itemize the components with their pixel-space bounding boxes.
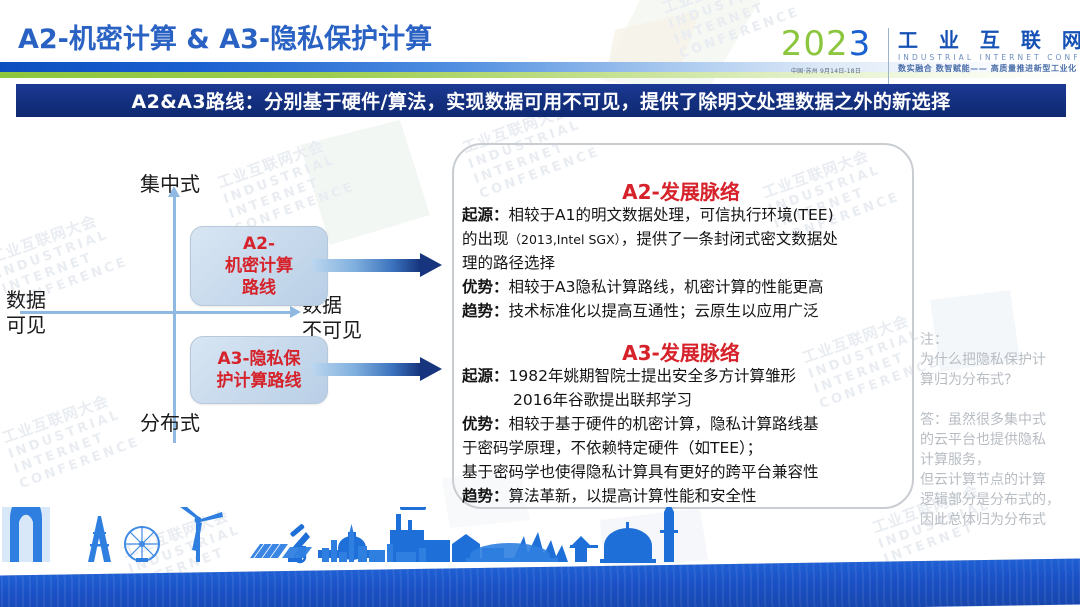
watermark-text: 工业互联网大会 INDUSTRIAL INTERNET CONFERENCE xyxy=(215,131,358,238)
a2-line-4-label: 优势： xyxy=(462,278,509,296)
logo-name-block: 工 业 互 联 网 大 会 INDUSTRIAL INTERNET CONFER… xyxy=(898,26,1080,75)
route-box-a3[interactable]: A3-隐私保 护计算路线 xyxy=(190,336,328,404)
a2-line-4-text: 相较于A3隐私计算路线，机密计算的性能更高 xyxy=(509,278,824,296)
arrow-head-icon xyxy=(420,253,442,277)
a3-line-3: 优势：相较于基于硬件的机密计算，隐私计算路线基 xyxy=(462,412,819,436)
arrow-to-a3-detail xyxy=(312,357,442,381)
slide-canvas: 工业互联网大会 INDUSTRIAL INTERNET CONFERENCE 工… xyxy=(0,0,1080,607)
a3-line-1-label: 起源： xyxy=(462,367,509,385)
a2-line-1-text: 相较于A1的明文数据处理，可信执行环境(TEE) xyxy=(509,206,834,224)
route-box-a3-label: A3-隐私保 护计算路线 xyxy=(217,348,302,392)
a2-line-5-label: 趋势： xyxy=(462,302,509,320)
a2-line-1: 起源：相较于A1的明文数据处理，可信执行环境(TEE) xyxy=(462,203,834,227)
arrow-head-icon xyxy=(420,357,442,381)
a2-line-2: 的出现（2013,Intel SGX），提供了一条封闭式密文数据处 xyxy=(462,227,838,252)
logo-slogan: 数实融合 数智赋能—— 高质量推进新型工业化 xyxy=(898,63,1080,75)
a2-line-4: 优势：相较于A3隐私计算路线，机密计算的性能更高 xyxy=(462,275,823,299)
a3-line-5-text: 基于密码学也使得隐私计算具有更好的跨平台兼容性 xyxy=(462,463,819,481)
route-box-a2[interactable]: A2- 机密计算 路线 xyxy=(190,226,328,306)
a2-line-2-text: 的出现 xyxy=(462,230,509,248)
arrow-shaft xyxy=(312,363,420,376)
a3-line-4: 于密码学原理，不依赖特定硬件（如TEE）； xyxy=(462,436,762,460)
logo-year-block: 2023 中国·苏州 9月14日-18日 xyxy=(770,26,888,75)
axis-label-left: 数据 可见 xyxy=(6,288,46,338)
a3-line-5: 基于密码学也使得隐私计算具有更好的跨平台兼容性 xyxy=(462,460,819,484)
footer-skyline xyxy=(0,507,1080,607)
logo-year: 2023 xyxy=(770,26,882,62)
a3-line-1: 起源：1982年姚期智院士提出安全多方计算雏形 xyxy=(462,364,796,388)
a3-line-6-label: 趋势： xyxy=(462,487,509,505)
logo-divider xyxy=(888,28,889,84)
section-a2-title: A2-发展脉络 xyxy=(452,176,910,205)
arrow-to-a2-detail xyxy=(312,253,442,277)
logo-name-en: INDUSTRIAL INTERNET CONFERENCE xyxy=(898,52,1080,63)
side-note: 注： 为什么把隐私保护计 算归为分布式? 答：虽然很多集中式 的云平台也提供隐私… xyxy=(920,330,1072,530)
logo-date: 中国·苏州 9月14日-18日 xyxy=(770,66,882,75)
a3-line-2: 2016年谷歌提出联邦学习 xyxy=(513,388,692,412)
page-title: A2-机密计算 & A3-隐私保护计算 xyxy=(18,17,432,56)
a3-line-6-text: 算法革新，以提高计算性能和安全性 xyxy=(509,487,757,505)
section-a3-title: A3-发展脉络 xyxy=(452,337,910,366)
arrow-shaft xyxy=(312,259,420,272)
a2-line-5: 趋势：技术标准化以提高互通性；云原生以应用广泛 xyxy=(462,299,819,323)
a2-line-5-text: 技术标准化以提高互通性；云原生以应用广泛 xyxy=(509,302,819,320)
axis-horizontal-arrowhead-icon xyxy=(290,306,301,318)
logo-name-cn: 工 业 互 联 网 大 会 xyxy=(898,28,1080,52)
watermark-text: 工业互联网大会 INDUSTRIAL INTERNET CONFERENCE xyxy=(0,386,143,493)
a3-line-6: 趋势：算法革新，以提高计算性能和安全性 xyxy=(462,484,757,508)
a3-line-1-text: 1982年姚期智院士提出安全多方计算雏形 xyxy=(509,367,796,385)
a2-line-2-note: （2013,Intel SGX） xyxy=(509,232,621,247)
axis-horizontal xyxy=(20,311,292,314)
a2-line-2-tail: ，提供了一条封闭式密文数据处 xyxy=(621,230,838,248)
a3-line-3-text: 相较于基于硬件的机密计算，隐私计算路线基 xyxy=(509,415,819,433)
a3-line-2-text: 2016年谷歌提出联邦学习 xyxy=(513,391,692,409)
conference-logo: 2023 中国·苏州 9月14日-18日 工 业 互 联 网 大 会 INDUS… xyxy=(770,26,1080,88)
a3-line-3-label: 优势： xyxy=(462,415,509,433)
a2-line-3-text: 理的路径选择 xyxy=(462,254,555,272)
axis-label-top: 集中式 xyxy=(140,172,200,197)
route-box-a2-label: A2- 机密计算 路线 xyxy=(225,233,293,299)
headline-banner: A2&A3路线：分别基于硬件/算法，实现数据可用不可见，提供了除明文处理数据之外… xyxy=(16,84,1066,117)
axis-label-bottom: 分布式 xyxy=(140,411,200,436)
a2-line-3: 理的路径选择 xyxy=(462,251,555,275)
axis-vertical xyxy=(173,195,176,443)
a3-line-4-text: 于密码学原理，不依赖特定硬件（如TEE）； xyxy=(462,439,762,457)
a2-line-1-label: 起源： xyxy=(462,206,509,224)
headline-banner-text: A2&A3路线：分别基于硬件/算法，实现数据可用不可见，提供了除明文处理数据之外… xyxy=(132,87,951,114)
